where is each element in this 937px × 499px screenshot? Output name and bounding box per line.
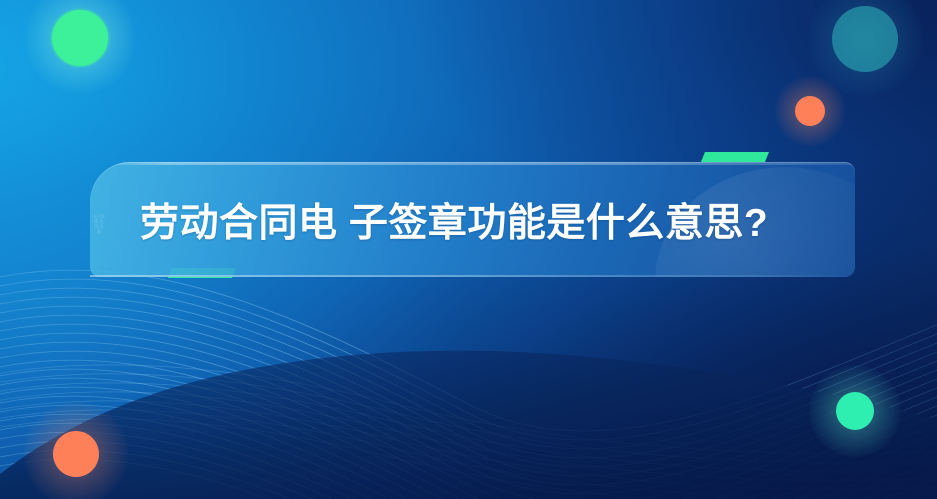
- dot-core: [836, 392, 874, 430]
- green-dot-bottom-right: [836, 392, 874, 430]
- teal-dot-top-right: [832, 6, 898, 72]
- dot-core: [52, 10, 108, 66]
- headline-card: 电子签章 合同 签署 劳动合同电 子签章功能是什么意思?: [90, 162, 855, 277]
- orange-dot-bottom-left: [53, 431, 99, 477]
- orange-dot-right: [795, 96, 825, 126]
- page-title: 劳动合同电 子签章功能是什么意思?: [140, 162, 768, 277]
- green-dot-top-left: [52, 10, 108, 66]
- dot-core: [832, 6, 898, 72]
- banner-canvas: 电子签章 合同 签署 劳动合同电 子签章功能是什么意思?: [0, 0, 937, 499]
- dot-core: [53, 431, 99, 477]
- green-slash-accent-top: [701, 152, 769, 162]
- card-watermark-text: 电子签章 合同 签署: [93, 214, 105, 234]
- lower-dark-swoosh: [0, 269, 937, 499]
- dot-core: [795, 96, 825, 126]
- card-underline-rule: [90, 275, 855, 277]
